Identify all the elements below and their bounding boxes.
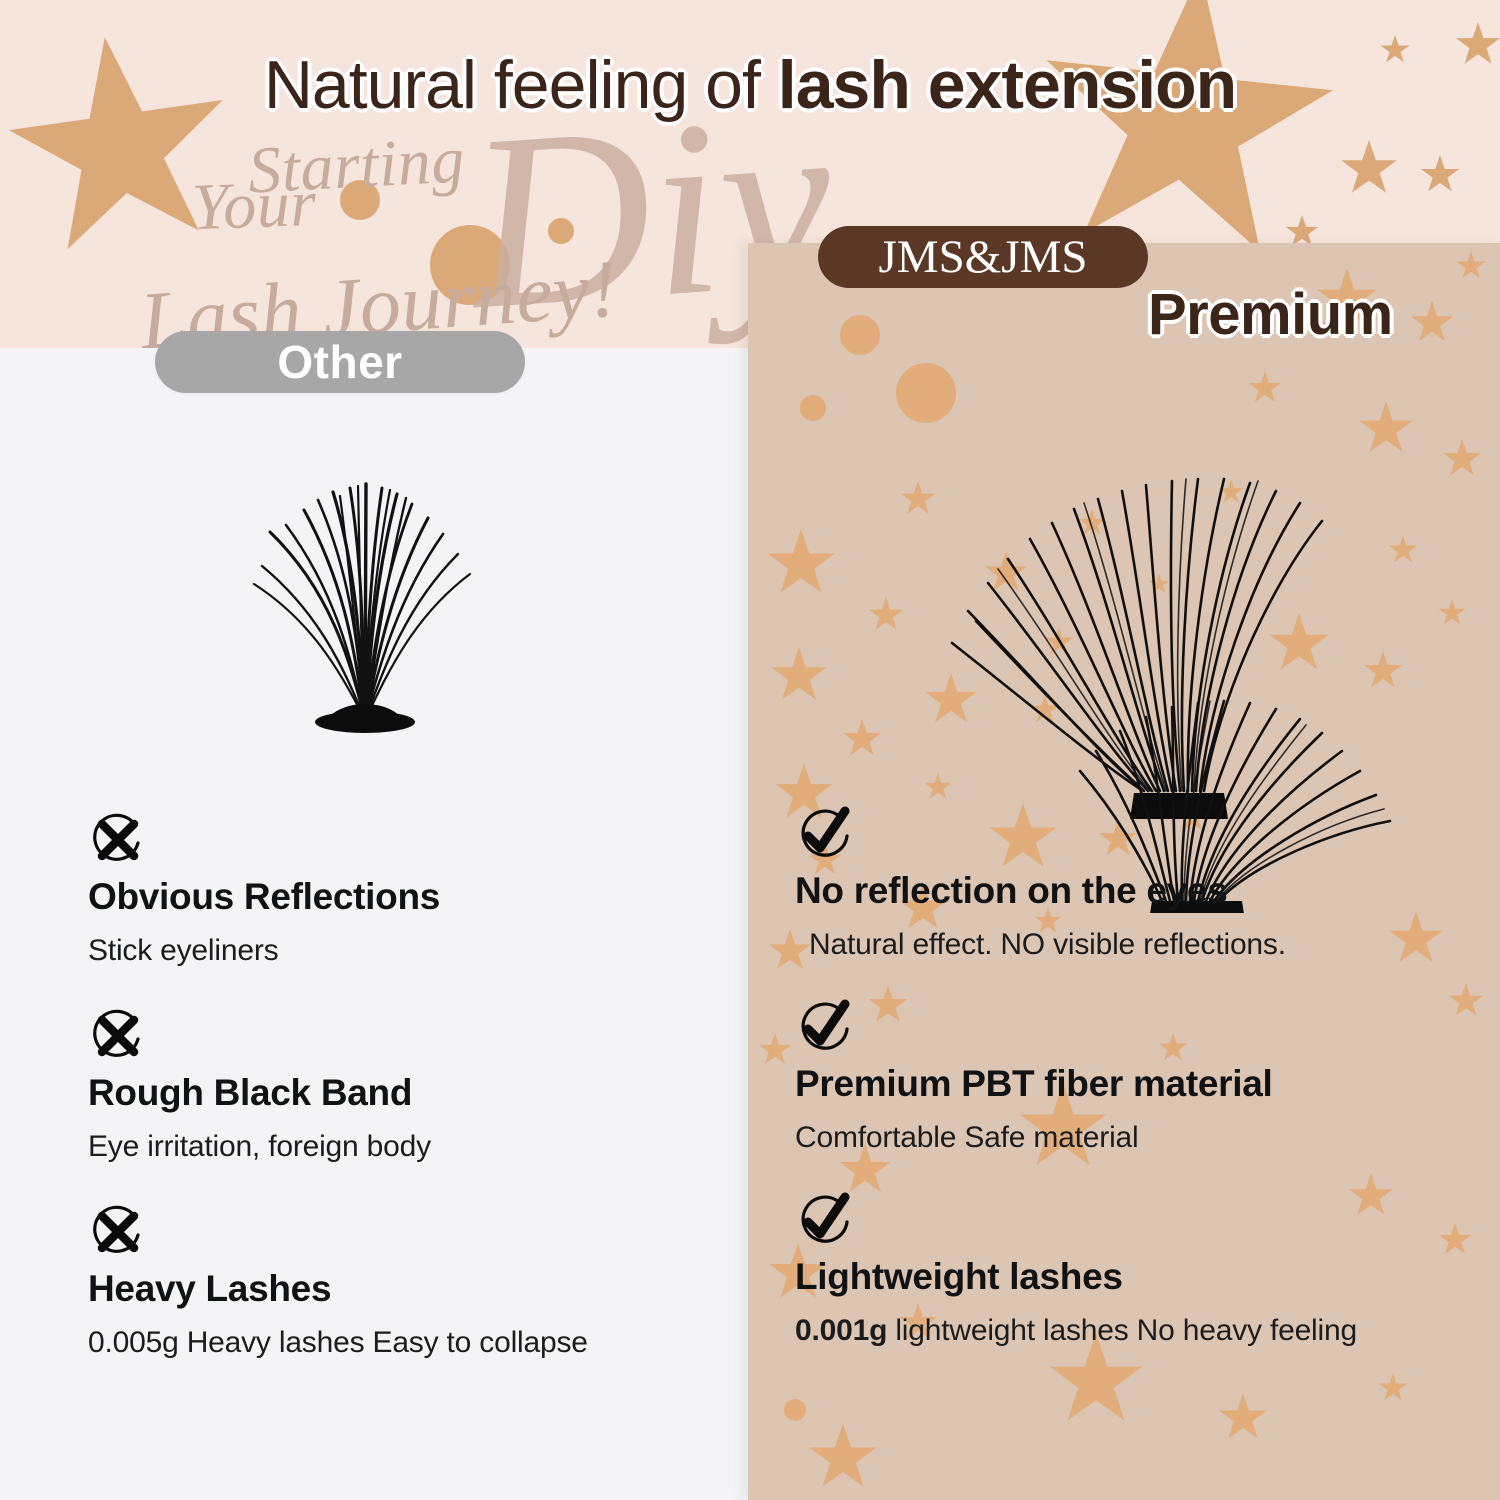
feature-subtitle: Stick eyeliners [88, 934, 708, 968]
decorative-star [1340, 140, 1398, 198]
feature-title: Lightweight lashes [795, 1256, 1485, 1298]
page-title-light: Natural feeling of [264, 47, 778, 123]
check-circle-icon [795, 806, 853, 864]
feature-title: No reflection on the eyes [795, 870, 1485, 912]
feature-title: Heavy Lashes [88, 1268, 708, 1310]
feature-subtitle: Eye irritation, foreign body [88, 1130, 708, 1164]
other-lash-image [200, 470, 530, 740]
cross-circle-icon [88, 812, 146, 870]
decorative-dot [800, 395, 826, 421]
decorative-star [1218, 1393, 1268, 1443]
decorative-star [758, 1033, 792, 1067]
premium-label: Premium [1148, 281, 1393, 348]
list-item: Heavy Lashes 0.005g Heavy lashes Easy to… [88, 1204, 708, 1360]
decorative-dot [840, 315, 880, 355]
decorative-star [766, 529, 836, 599]
decorative-star [1438, 599, 1466, 627]
list-item: Premium PBT fiber material Comfortable S… [795, 999, 1485, 1155]
page-title: Natural feeling of lash extension [0, 46, 1500, 124]
feature-subtitle: 0.001g lightweight lashes No heavy feeli… [795, 1314, 1485, 1348]
feature-subtitle-rest: lightweight lashes No heavy feeling [887, 1314, 1357, 1347]
feature-subtitle: 0.005g Heavy lashes Easy to collapse [88, 1326, 708, 1360]
premium-feature-list: No reflection on the eyes Natural effect… [795, 806, 1485, 1385]
decorative-star [1456, 251, 1486, 281]
decorative-star [1442, 439, 1482, 479]
decorative-star [1410, 301, 1454, 345]
check-circle-icon [795, 999, 853, 1057]
other-badge: Other [155, 331, 525, 393]
feature-subtitle: Natural effect. NO visible reflections. [795, 928, 1485, 962]
cross-circle-icon [88, 1204, 146, 1262]
other-lash-svg [200, 470, 530, 740]
feature-title: Premium PBT fiber material [795, 1063, 1485, 1105]
list-item: Obvious Reflections Stick eyeliners [88, 812, 708, 968]
list-item: Rough Black Band Eye irritation, foreign… [88, 1008, 708, 1164]
feature-subtitle: Comfortable Safe material [795, 1121, 1485, 1155]
check-circle-icon [795, 1192, 853, 1250]
feature-weight-value: 0.001g [795, 1314, 887, 1347]
brand-badge: JMS&JMS [818, 226, 1148, 288]
cross-circle-icon [88, 1008, 146, 1066]
list-item: No reflection on the eyes Natural effect… [795, 806, 1485, 962]
feature-title: Rough Black Band [88, 1072, 708, 1114]
decorative-star [808, 1423, 878, 1493]
decorative-star [1420, 155, 1460, 195]
page-title-bold: lash extension [778, 47, 1236, 123]
feature-title: Obvious Reflections [88, 876, 708, 918]
decorative-dot [784, 1399, 806, 1421]
list-item: Lightweight lashes 0.001g lightweight la… [795, 1192, 1485, 1348]
script-deco-your: Your [191, 166, 318, 246]
other-feature-list: Obvious Reflections Stick eyeliners Roug… [88, 812, 708, 1400]
decorative-star [770, 647, 828, 705]
infographic-canvas: Diy Starting Your Lash Journey! Natural … [0, 0, 1500, 1500]
